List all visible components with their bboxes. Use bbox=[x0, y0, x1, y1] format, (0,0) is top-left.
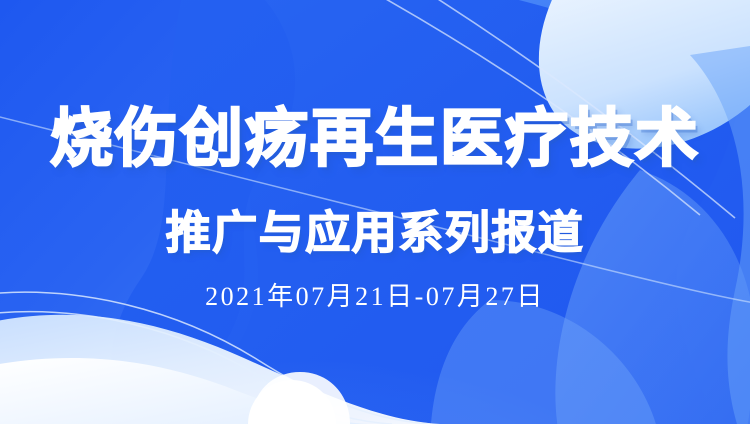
banner-container: 烧伤创疡再生医疗技术 推广与应用系列报道 2021年07月21日-07月27日 bbox=[0, 0, 750, 424]
date-range: 2021年07月21日-07月27日 bbox=[0, 281, 750, 313]
main-title: 烧伤创疡再生医疗技术 bbox=[0, 104, 750, 174]
banner-text-layer: 烧伤创疡再生医疗技术 推广与应用系列报道 2021年07月21日-07月27日 bbox=[0, 0, 750, 424]
subtitle: 推广与应用系列报道 bbox=[0, 207, 750, 259]
